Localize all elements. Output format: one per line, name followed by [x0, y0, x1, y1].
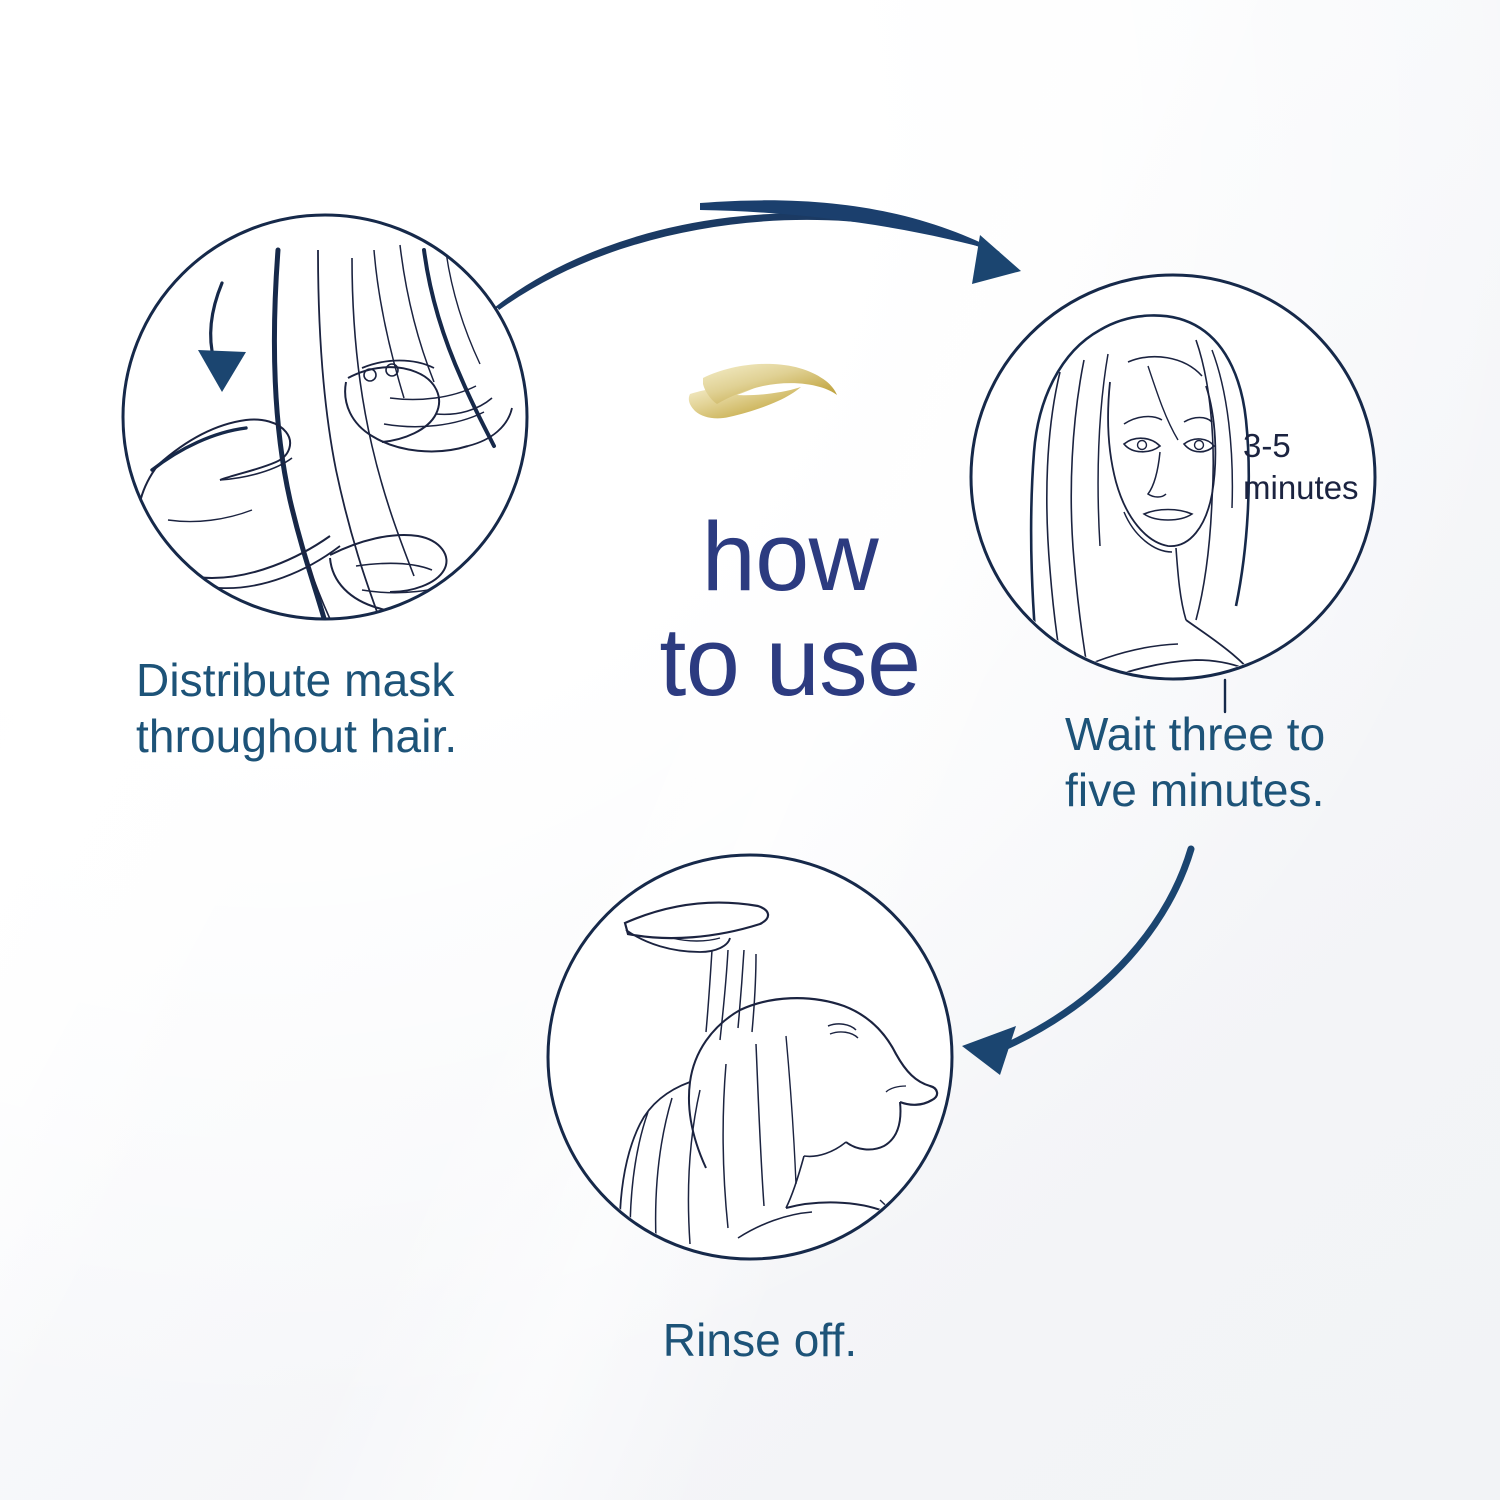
- step-distribute-illustration: [123, 215, 527, 640]
- step-caption-distribute: Distribute mask throughout hair.: [136, 652, 566, 764]
- step-caption-wait: Wait three to five minutes.: [1065, 706, 1395, 818]
- dove-bird-logo: [683, 358, 843, 430]
- curved-arrow-right-icon: [497, 200, 1021, 310]
- how-to-use-infographic: how to use 3-5 minutes Distribute mask t…: [0, 0, 1500, 1500]
- step-rinse-illustration: [548, 855, 952, 1276]
- step-caption-rinse: Rinse off.: [560, 1312, 960, 1368]
- wait-duration-label: 3-5 minutes: [1243, 425, 1383, 509]
- page-title: how to use: [600, 505, 980, 715]
